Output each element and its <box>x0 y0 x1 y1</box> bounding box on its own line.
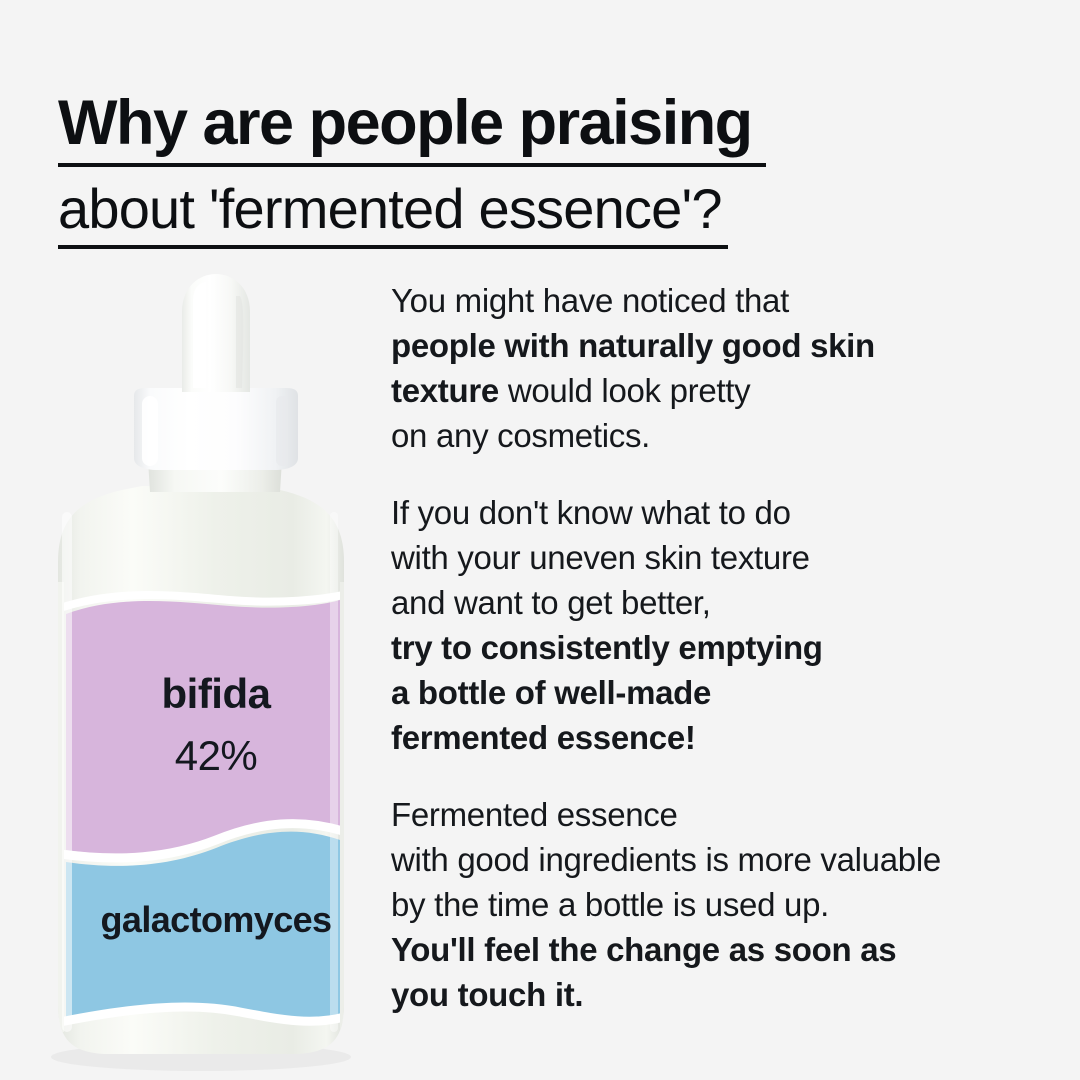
cap-highlight <box>142 396 158 466</box>
headline-line-1-text: Why are people praising <box>58 92 766 167</box>
p2-line-4-bold: try to consistently emptying <box>391 629 823 666</box>
p3-line-4: You'll feel the change as soon as <box>391 927 1031 972</box>
dropper-cap <box>134 388 298 470</box>
glass-right-highlight <box>330 512 338 1032</box>
p2-line-2: with your uneven skin texture <box>391 535 1031 580</box>
cap-shade <box>276 396 288 466</box>
p3-line-3: by the time a bottle is used up. <box>391 882 1031 927</box>
headline-line-2-text: about 'fermented essence'? <box>58 181 728 249</box>
bottle-svg <box>30 262 402 1080</box>
paragraph-2: If you don't know what to do with your u… <box>391 490 1031 760</box>
p3-line-4-bold: You'll feel the change as soon as <box>391 931 896 968</box>
glass-left-highlight <box>62 512 72 1032</box>
label-right-margin <box>340 582 356 1032</box>
product-bottle-illustration: bifida 42% galactomyces <box>30 262 402 1080</box>
p1-line-1: You might have noticed that <box>391 278 1031 323</box>
p1-line-3: texture would look pretty <box>391 368 1031 413</box>
p3-line-2: with good ingredients is more valuable <box>391 837 1031 882</box>
body-copy: You might have noticed that people with … <box>391 278 1031 1017</box>
p1-line-4: on any cosmetics. <box>391 413 1031 458</box>
p3-line-5-bold: you touch it. <box>391 976 583 1013</box>
p2-line-5: a bottle of well-made <box>391 670 1031 715</box>
p1-line-2: people with naturally good skin <box>391 323 1031 368</box>
p2-line-4: try to consistently emptying <box>391 625 1031 670</box>
p1-line-3-regular: would look pretty <box>499 372 750 409</box>
headline-line-1: Why are people praising <box>58 92 1018 167</box>
paragraph-3: Fermented essence with good ingredients … <box>391 792 1031 1017</box>
paragraph-1: You might have noticed that people with … <box>391 278 1031 458</box>
bottle-label-group <box>50 582 356 1032</box>
bulb-shade <box>236 296 243 388</box>
p3-line-1: Fermented essence <box>391 792 1031 837</box>
page-title: Why are people praising about 'fermented… <box>58 92 1018 249</box>
p2-line-1: If you don't know what to do <box>391 490 1031 535</box>
infographic-page: Why are people praising about 'fermented… <box>0 0 1080 1080</box>
label-left-margin <box>50 582 64 1032</box>
p1-line-2-bold: people with naturally good skin <box>391 327 875 364</box>
p3-line-5: you touch it. <box>391 972 1031 1017</box>
headline-line-2: about 'fermented essence'? <box>58 181 1018 249</box>
p2-line-6: fermented essence! <box>391 715 1031 760</box>
p1-line-3-bold: texture <box>391 372 499 409</box>
p2-line-6-bold: fermented essence! <box>391 719 696 756</box>
p2-line-3: and want to get better, <box>391 580 1031 625</box>
bulb-highlight <box>193 282 206 388</box>
label-bifida-band <box>66 600 340 854</box>
p2-line-5-bold: a bottle of well-made <box>391 674 711 711</box>
